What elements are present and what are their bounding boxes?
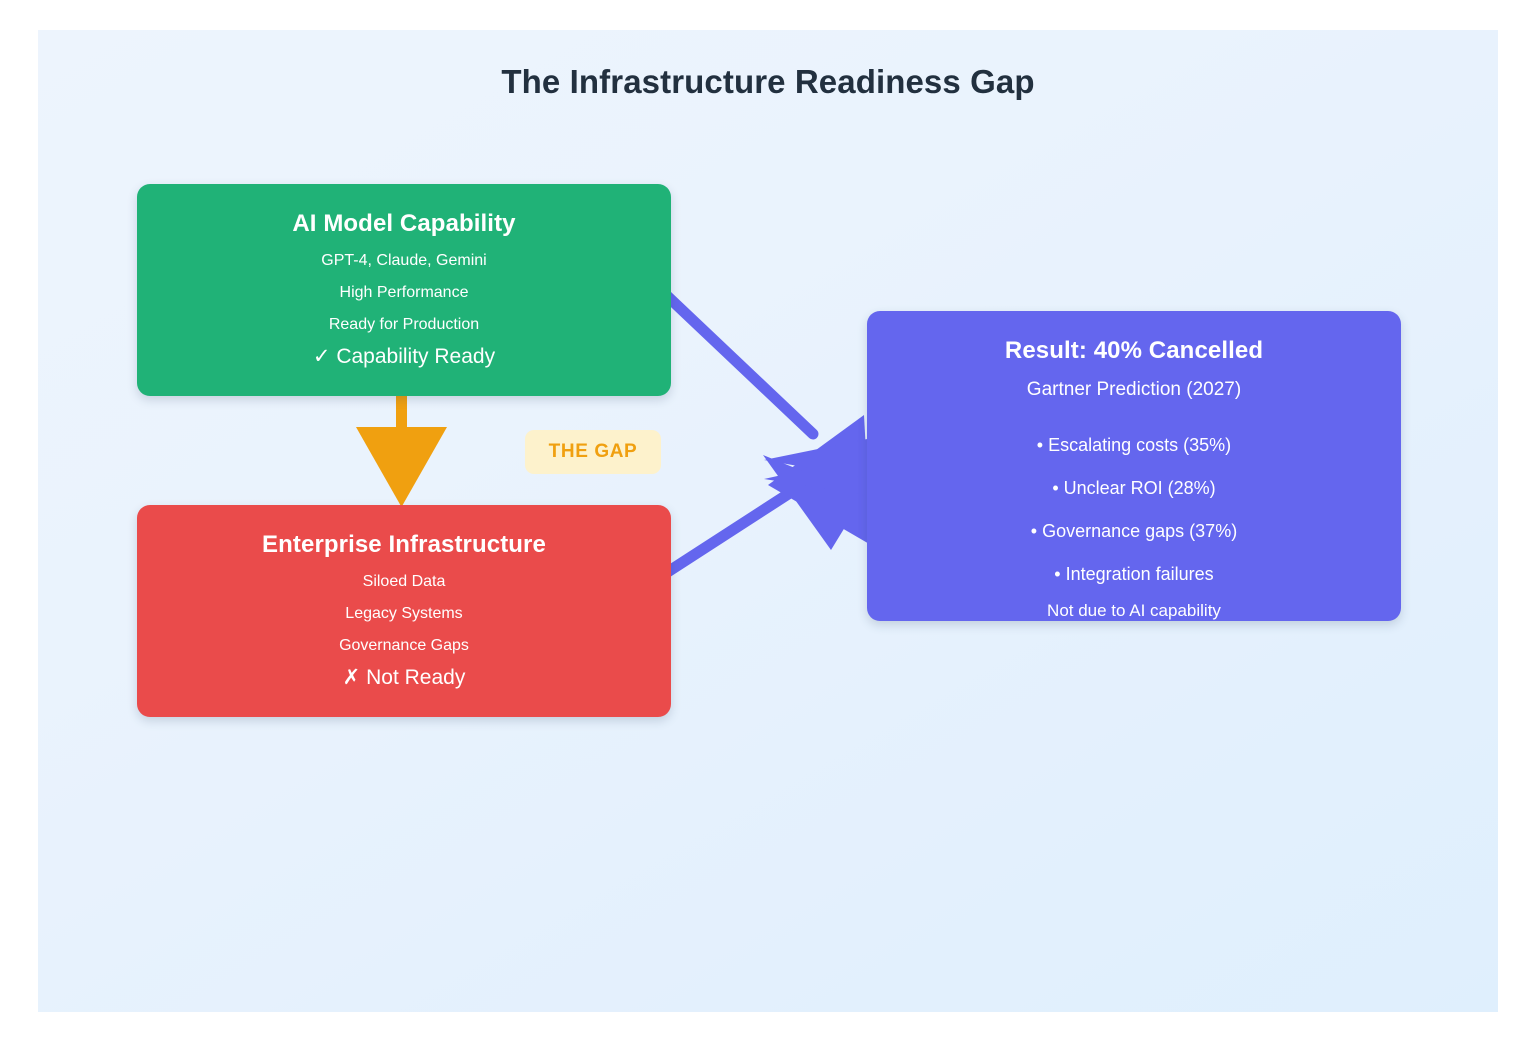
flow-arrow-capability-to-result (663, 292, 871, 545)
node-result-bullet-3: • Governance gaps (37%) (867, 521, 1401, 542)
node-ai-model-capability[interactable]: AI Model Capability GPT-4, Claude, Gemin… (137, 184, 671, 396)
node-enterprise-infrastructure[interactable]: Enterprise Infrastructure Siloed Data Le… (137, 505, 671, 717)
arrow-convergence (764, 438, 872, 496)
node-result-subtitle: Gartner Prediction (2027) (867, 379, 1401, 401)
node-infrastructure-title: Enterprise Infrastructure (137, 531, 671, 559)
node-capability-line-3: Ready for Production (137, 316, 671, 334)
node-result-footnote: Not due to AI capability (867, 601, 1401, 621)
node-result-bullet-4: • Integration failures (867, 564, 1401, 585)
flow-arrow-infrastructure-to-result (663, 455, 864, 575)
node-result-bullet-1: • Escalating costs (35%) (867, 435, 1401, 456)
gap-arrow (356, 395, 447, 508)
node-capability-line-2: High Performance (137, 284, 671, 302)
node-infrastructure-line-3: Governance Gaps (137, 637, 671, 655)
diagram-canvas: The Infrastructure Readiness Gap AI Mode… (38, 30, 1498, 1012)
node-result-title: Result: 40% Cancelled (867, 337, 1401, 365)
node-capability-line-1: GPT-4, Claude, Gemini (137, 252, 671, 270)
node-capability-status: ✓ Capability Ready (137, 344, 671, 369)
node-capability-title: AI Model Capability (137, 210, 671, 238)
page-title: The Infrastructure Readiness Gap (38, 63, 1498, 101)
node-infrastructure-line-2: Legacy Systems (137, 605, 671, 623)
node-infrastructure-line-1: Siloed Data (137, 573, 671, 591)
gap-badge: THE GAP (525, 430, 661, 474)
node-result-bullet-2: • Unclear ROI (28%) (867, 478, 1401, 499)
node-result[interactable]: Result: 40% Cancelled Gartner Prediction… (867, 311, 1401, 621)
gap-badge-label: THE GAP (549, 441, 638, 463)
node-infrastructure-status: ✗ Not Ready (137, 665, 671, 690)
